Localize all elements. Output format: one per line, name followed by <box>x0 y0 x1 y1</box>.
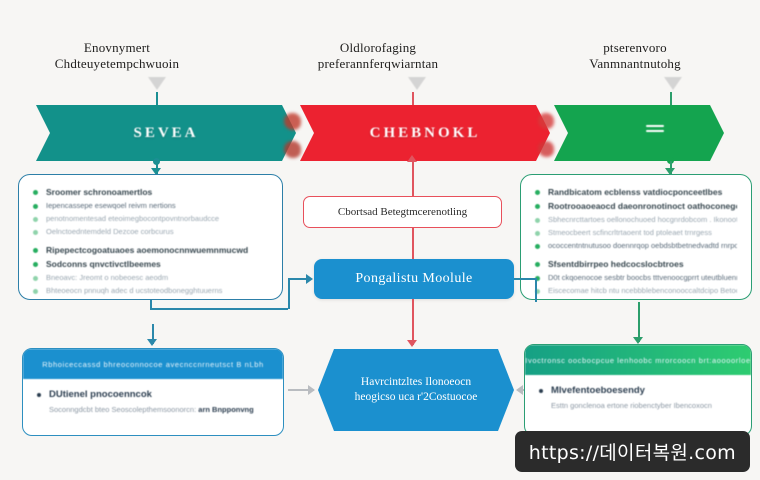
decorative-smudge-1 <box>284 113 301 130</box>
connector-line-red-up <box>412 92 414 105</box>
list-item: penotnomentesad eteoimegbocontpovntnorba… <box>32 214 268 224</box>
center-process-line2: heogicso uca r'2Costuocoe <box>355 390 478 405</box>
left-detail-panel: Sroomer schronoamertlos Iepencassepe ese… <box>18 174 283 300</box>
list-item: Iepencassepe esewqoel reivm nertions <box>32 201 268 211</box>
list-item: Ripepectcogoatuaoes aoemonocnnwuemnmucwd <box>32 245 268 256</box>
decorative-smudge-3 <box>538 113 554 129</box>
bottom-right-card[interactable]: Ivoctronsc oocbocpcue lenhoobc mrorcoocn… <box>524 344 752 436</box>
center-process-line1: Havrcintzltes Ilonoeocn <box>355 375 478 390</box>
connector-line-to-card-right <box>638 302 640 342</box>
list-item: Rootrooaoeaocd daeonronotinoct oathocone… <box>534 201 737 212</box>
stage-label-1-line1: Enovnymert <box>2 40 232 56</box>
chevron-stage-2[interactable]: CHEBNOKL <box>300 105 550 161</box>
list-item: Sodconns qnvctivctlbeemes <box>32 259 268 270</box>
center-monitoring-label: Cbortsad Betegtmcerenotling <box>338 206 467 218</box>
list-item: D0t ckqoenocoe sesbtr boocbs tttvenoocgp… <box>534 273 737 283</box>
stage-label-3-line1: ptserenvoro <box>520 40 750 56</box>
stage-label-1: Enovnymert Chdteuyetempchwuoin <box>2 40 232 72</box>
connector-line-red-to-pill <box>412 228 414 259</box>
bottom-left-card[interactable]: Rbhoiceccassd bhreoconnocoe avecnccnrneu… <box>22 348 284 436</box>
stage-label-2-line1: Oldlorofaging <box>263 40 493 56</box>
list-item: Sbhecnrcttartoes oellonochuoed hocgnrdob… <box>534 215 737 225</box>
arrowhead-right-1 <box>306 274 313 284</box>
chevron-stage-1[interactable]: SEVEA <box>36 105 296 161</box>
site-watermark: https://데이터복원.com <box>515 431 750 472</box>
bottom-right-card-header-label: Ivoctronsc oocbocpcue lenhoobc mrorcoocn… <box>525 356 750 365</box>
arrowhead-down-5 <box>633 337 643 344</box>
caret-down-icon-2 <box>408 77 426 90</box>
bottom-right-card-header: Ivoctronsc oocbocpcue lenhoobc mrorcoocn… <box>525 345 751 375</box>
bottom-right-card-bullet-sub: Esttn gonclenoa ertone riobenctyber Iben… <box>539 401 739 411</box>
stage-label-3: ptserenvoro Vanmnantnutohg <box>520 40 750 72</box>
arrowhead-down-4 <box>147 339 157 346</box>
right-detail-panel: Randbicatom ecblenss vatdiocponceetlbes … <box>520 174 752 300</box>
bottom-left-card-bullet-sub-strong: arn Bnpponvng <box>198 405 253 414</box>
connector-line-green-up <box>670 92 672 105</box>
connector-line-to-rightpanel <box>514 278 536 280</box>
connector-line-to-pill-left <box>288 278 308 280</box>
bottom-right-card-body: Mlvefentoeboesendy Esttn gonclenoa erton… <box>525 375 751 411</box>
center-monitoring-box[interactable]: Cbortsad Betegtmcerenotling <box>303 196 502 228</box>
bottom-left-card-bullet-title: DUtienel pnocoenncok <box>37 389 271 401</box>
stage-label-1-line2: Chdteuyetempchwuoin <box>2 56 232 72</box>
equals-icon <box>646 125 664 134</box>
bottom-left-card-bullet-sub-text: Soconngdcbt bteo Seoscolepthemsoonorcn: <box>49 405 196 414</box>
arrowhead-left-1 <box>516 385 523 395</box>
list-item: Bneoavc: Jreomt o nobeoesc aeodm <box>32 273 268 283</box>
bottom-left-card-bullet-sub: Soconngdcbt bteo Seoscolepthemsoonorcn: … <box>37 405 271 415</box>
diagram-canvas: Enovnymert Chdteuyetempchwuoin Oldlorofa… <box>0 0 760 480</box>
center-module-label: Pongalistu Moolule <box>355 271 472 287</box>
stage-label-2: Oldlorofaging preferannferqwiarntan <box>263 40 493 72</box>
bottom-right-card-bullet-title: Mlvefentoeboesendy <box>539 385 739 397</box>
list-item: ococcentntnutusoo doennrqop oebdsbtbetne… <box>534 241 737 251</box>
connector-line-red-down <box>412 161 414 199</box>
decorative-smudge-2 <box>284 141 301 158</box>
list-item: Eiscecomae hitcb ntu ncebbblebenconoocca… <box>534 286 737 296</box>
chevron-stage-1-label: SEVEA <box>133 125 198 142</box>
bottom-left-card-header: Rbhoiceccassd bhreoconnocoe avecnccnrneu… <box>23 349 283 379</box>
list-item: Randbicatom ecblenss vatdiocponceetlbes <box>534 187 737 198</box>
left-panel-list: Sroomer schronoamertlos Iepencassepe ese… <box>32 187 268 296</box>
stage-label-2-line2: preferannferqwiarntan <box>263 56 493 72</box>
connector-line-leftpanel-riser <box>288 278 290 309</box>
caret-down-icon-1 <box>148 77 166 90</box>
list-item: Sfsentdbirrpeo hedcocslocbtroes <box>534 259 737 270</box>
arrowhead-down-3 <box>407 340 417 347</box>
connector-line-rightpanel-riser <box>535 278 537 302</box>
center-process-node[interactable]: Havrcintzltes Ilonoeocn heogicso uca r'2… <box>318 349 514 431</box>
stage-label-3-line2: Vanmnantnutohg <box>520 56 750 72</box>
connector-line-leftpanel-across <box>150 308 288 310</box>
chevron-stage-3[interactable] <box>554 105 724 161</box>
bottom-left-card-body: DUtienel pnocoenncok Soconngdcbt bteo Se… <box>23 379 283 415</box>
right-panel-list: Randbicatom ecblenss vatdiocponceetlbes … <box>534 187 737 296</box>
center-module-pill[interactable]: Pongalistu Moolule <box>314 259 514 299</box>
arrowhead-up-1 <box>407 155 417 162</box>
chevron-stage-2-label: CHEBNOKL <box>370 125 481 142</box>
caret-down-icon-3 <box>664 77 682 90</box>
arrowhead-right-2 <box>308 385 315 395</box>
list-item: Stmeocbeert scfincrltrtaoent tod ptoleae… <box>534 228 737 238</box>
list-item: Bhteoeocn pnnuqh adec d ucstoteodboneggh… <box>32 286 268 296</box>
decorative-smudge-4 <box>538 141 554 157</box>
connector-line-pill-to-hex <box>412 299 414 345</box>
bottom-left-card-header-label: Rbhoiceccassd bhreoconnocoe avecnccnrneu… <box>42 360 264 369</box>
connector-line-leftpanel-down <box>150 300 152 308</box>
connector-line-teal-up <box>156 92 158 105</box>
list-item: Oelnctoedntemdeld Dezcoe corbcurus <box>32 227 268 237</box>
list-item: Sroomer schronoamertlos <box>32 187 268 198</box>
